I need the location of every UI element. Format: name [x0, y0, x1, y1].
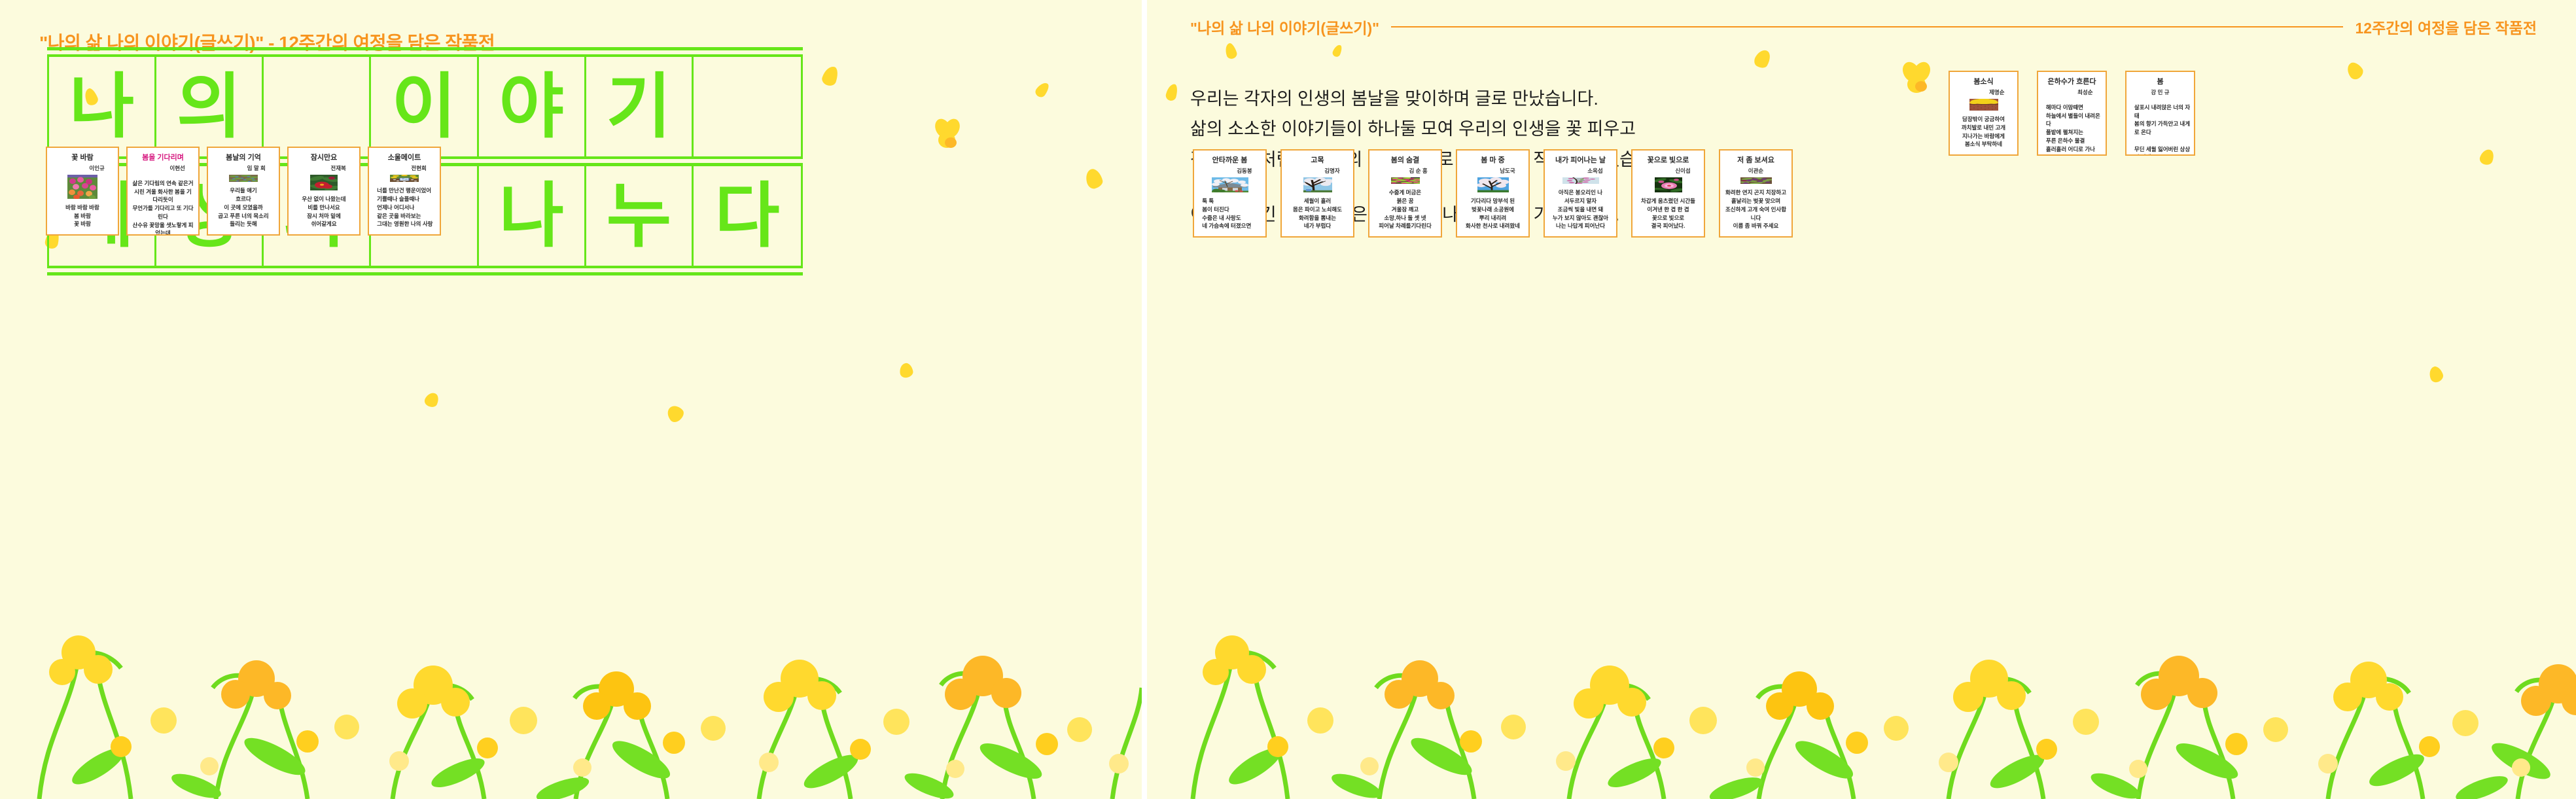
- right-panel-header: "나의 삶 나의 이야기(글쓰기)" 12주간의 여정을 담은 작품전: [1190, 16, 2537, 38]
- card-title: 봄 마 중: [1462, 156, 1524, 166]
- card-poem: 세월이 흘러 몸은 파이고 노쇠해도 화려함을 뽐내는 네가 부럽다: [1286, 197, 1349, 230]
- card-title: 봄날의 기억: [213, 154, 274, 163]
- card-author: 김명자: [1324, 168, 1339, 174]
- card-author: 강 민 규: [2151, 89, 2169, 96]
- floating-petal-icon: [820, 64, 840, 87]
- pasque-flower-purple-photo: [1740, 177, 1772, 184]
- headline-cell: 다: [694, 166, 801, 266]
- right-poster-panel: "나의 삶 나의 이야기(글쓰기)" 12주간의 여정을 담은 작품전 우리는 …: [1147, 0, 2576, 799]
- card-author: 신이섭: [1675, 168, 1690, 174]
- headline-cell: [694, 57, 801, 156]
- card-author: 전재복: [330, 165, 345, 171]
- floating-petal-icon: [1752, 47, 1773, 70]
- artwork-card[interactable]: 봄을 기다리며 이현선 삶은 기다림의 연속 같은거 시린 겨울 화사한 봄을 …: [126, 147, 200, 236]
- card-title: 봄: [2131, 78, 2189, 87]
- headline-rule-bottom: [47, 272, 803, 275]
- artwork-card[interactable]: 꽃 바람 이인규 바람 바람 바람 봄 바람 꽃 바람: [46, 147, 119, 236]
- card-author: 제명순: [1989, 89, 2004, 96]
- artwork-card[interactable]: 봄소식 제명순 담장밖이 궁금하여 까치발로 내민 고개 지나가는 바람에게 봄…: [1949, 71, 2019, 156]
- card-poem: 바람 바람 바람 봄 바람 꽃 바람: [52, 204, 113, 228]
- card-author: 김동봉: [1237, 168, 1252, 174]
- right-header-right-text: 12주간의 여정을 담은 작품전: [2355, 16, 2537, 38]
- headline-cell: 이: [371, 57, 478, 156]
- floating-petal-icon: [2427, 364, 2444, 383]
- floating-petal-icon: [1034, 80, 1051, 99]
- left-poster-panel: "나의 삶 나의 이야기(글쓰기)" - 12주간의 여정을 담은 작품전 나 …: [0, 0, 1142, 799]
- cherry-blossom-hanok-roof-photo: [1212, 177, 1248, 192]
- card-poem: 해마다 이맘때면 하늘에서 별들이 내려온다 풀밭에 펼쳐지는 푸른 은하수 물…: [2039, 103, 2104, 154]
- card-title: 봄소식: [1954, 78, 2013, 87]
- card-title: 꽃으로 빛으로: [1637, 156, 1699, 166]
- artwork-card[interactable]: 봄 강 민 규 살포시 내려앉은 너의 자태 봄의 향기 가득안고 내게로 온다…: [2125, 71, 2195, 156]
- card-title: 꽃 바람: [52, 154, 113, 163]
- headline-cell: 기: [586, 57, 694, 156]
- card-poem: 우리들 얘기 흐르다 이 곳에 모였을까 곱고 푸른 너의 목소리 들리는 듯해: [213, 186, 274, 228]
- headline-cell: 야: [479, 57, 586, 156]
- floating-petal-icon: [1224, 42, 1239, 60]
- canola-flower-background-art: [1147, 459, 2576, 799]
- card-title: 잠시만요: [293, 154, 355, 163]
- artwork-card[interactable]: 안타까운 봄 김동봉 툭 툭 봄이 터진다 수줍은 내 사랑도 네 가슴속에 터…: [1193, 149, 1267, 238]
- card-poem: 살포시 내려앉은 너의 자태 봄의 향기 가득안고 내게로 온다 무딘 세월 잃…: [2128, 103, 2193, 156]
- headline-row-1: 나 의 이 야 기: [47, 57, 803, 156]
- card-author: 소옥섭: [1587, 168, 1602, 174]
- card-author: 전현희: [411, 165, 426, 171]
- headline-cell: 누: [586, 166, 694, 266]
- artwork-card[interactable]: 내가 피어나는 날 소옥섭 아직은 봉오리인 나 서두르지 말자 조금씩 빛을 …: [1544, 149, 1617, 238]
- card-title: 고목: [1286, 156, 1349, 166]
- floating-petal-icon: [1084, 167, 1104, 190]
- old-cherry-tree-photo: [1303, 177, 1332, 192]
- headline-cell: 의: [156, 57, 264, 156]
- floating-petal-icon: [2478, 147, 2496, 166]
- artwork-card[interactable]: 꽃으로 빛으로 신이섭 차갑게 움츠렸던 시간들 이겨낸 한 겹 한 겹 꽃으로…: [1631, 149, 1705, 238]
- floating-petal-icon: [1165, 82, 1179, 101]
- canola-flower-background-art: [0, 459, 1142, 799]
- card-title: 안타까운 봄: [1199, 156, 1261, 166]
- card-poem: 기다리다 망부석 된 벚꽃나래 소공원에 뿌리 내리려 화사한 천사로 내려왔네: [1462, 197, 1524, 230]
- poster-canvas: "나의 삶 나의 이야기(글쓰기)" - 12주간의 여정을 담은 작품전 나 …: [0, 0, 2576, 799]
- card-title: 저 좀 보셔요: [1725, 156, 1787, 166]
- card-poem: 툭 툭 봄이 터진다 수줍은 내 사랑도 네 가슴속에 터졌으면: [1195, 197, 1264, 230]
- card-poem: 화려한 연지 곤지 치장하고 흩날리는 벚꽃 맞으며 조신하게 고개 숙여 인사…: [1725, 188, 1787, 230]
- artwork-card[interactable]: 봄날의 기억 임 말 희 우리들 얘기 흐르다 이 곳에 모였을까 곱고 푸른 …: [207, 147, 280, 236]
- floating-petal-icon: [664, 402, 686, 425]
- card-author: 임 말 희: [247, 165, 266, 171]
- artwork-card[interactable]: 봄 마 중 남도국 기다리다 망부석 된 벚꽃나래 소공원에 뿌리 내리려 화사…: [1456, 149, 1530, 238]
- artwork-card[interactable]: 소울메이트 전현희 너를 만난건 행운이었어 기쁠때나 슬플때나 언제나 어디서…: [368, 147, 441, 236]
- card-poem: 우산 없이 나왔는데 비를 만나서요 잠시 처마 밑에 쉬어갈게요: [293, 195, 355, 228]
- floating-flower-icon: [932, 118, 962, 149]
- card-author: 이현선: [169, 165, 185, 171]
- header-divider-line: [1391, 26, 2343, 27]
- pink-azalea-bush-photo: [1391, 177, 1420, 184]
- card-title: 봄의 숨결: [1374, 156, 1436, 166]
- floating-petal-icon: [2344, 60, 2365, 82]
- card-author: 이관순: [1748, 168, 1763, 174]
- artwork-card[interactable]: 고목 김명자 세월이 흘러 몸은 파이고 노쇠해도 화려함을 뽐내는 네가 부럽…: [1280, 149, 1354, 238]
- cherry-blossom-tree-sky-photo: [1477, 177, 1509, 192]
- card-title: 소울메이트: [374, 154, 435, 163]
- card-poem: 수줍게 머금은 붉은 꿈 겨울잠 깨고 소망,하나 둘 셋 넷 피어날 차례를기…: [1374, 188, 1436, 230]
- pink-camellia-bloom-photo: [1655, 177, 1682, 192]
- card-title: 은하수가 흐른다: [2043, 78, 2101, 87]
- card-poem: 담장밖이 궁금하여 까치발로 내민 고개 지나가는 바람에게 봄소식 부탁하네: [1954, 115, 2013, 149]
- panel-divider: [1142, 0, 1147, 799]
- artwork-card[interactable]: 잠시만요 전재복 우산 없이 나왔는데 비를 만나서요 잠시 처마 밑에 쉬어갈…: [287, 147, 361, 236]
- tulip-flower-field-photo: [67, 175, 97, 199]
- headline-cell: [264, 57, 371, 156]
- card-title: 봄을 기다리며: [132, 154, 194, 163]
- floating-petal-icon: [1332, 43, 1343, 58]
- artwork-card[interactable]: 저 좀 보셔요 이관순 화려한 연지 곤지 치장하고 흩날리는 벚꽃 맞으며 조…: [1719, 149, 1793, 238]
- blue-speedwell-ground-flowers-photo: [229, 175, 258, 182]
- card-author: 최성순: [2077, 89, 2092, 96]
- card-poem: 아직은 봉오리인 나 서두르지 말자 조금씩 빛을 내면 돼 누가 보지 않아도…: [1549, 188, 1612, 230]
- card-author: 김 순 흥: [1409, 168, 1428, 174]
- artwork-card[interactable]: 봄의 숨결 김 순 흥 수줍게 머금은 붉은 꿈 겨울잠 깨고 소망,하나 둘 …: [1368, 149, 1442, 238]
- artwork-card[interactable]: 은하수가 흐른다 최성순 해마다 이맘때면 하늘에서 별들이 내려온다 풀밭에 …: [2037, 71, 2107, 156]
- card-poem: 삶은 기다림의 연속 같은거 시린 겨울 화사한 봄을 기다리듯이 무언가를 기…: [132, 179, 194, 236]
- red-camellia-flower-photo: [310, 175, 338, 190]
- headline-cell: 나: [49, 57, 156, 156]
- card-poem: 너를 만난건 행운이었어 기쁠때나 슬플때나 언제나 어디서나 같은 곳을 바라…: [370, 186, 438, 228]
- floating-petal-icon: [898, 362, 914, 378]
- forsythia-over-brick-wall-photo: [1969, 99, 1998, 111]
- card-title: 내가 피어나는 날: [1549, 156, 1612, 166]
- right-header-left-text: "나의 삶 나의 이야기(글쓰기)": [1190, 16, 1379, 38]
- cherry-blossom-buds-branch-photo: [1562, 177, 1599, 184]
- floating-petal-icon: [423, 391, 440, 409]
- card-poem: 차갑게 움츠렸던 시간들 이겨낸 한 겹 한 겹 꽃으로 빛으로 결국 피어났다…: [1637, 197, 1699, 230]
- card-author: 이인규: [89, 165, 104, 171]
- card-author: 남도국: [1500, 168, 1515, 174]
- daffodil-garden-with-drawing-photo: [390, 175, 419, 182]
- headline-cell: 나: [479, 166, 586, 266]
